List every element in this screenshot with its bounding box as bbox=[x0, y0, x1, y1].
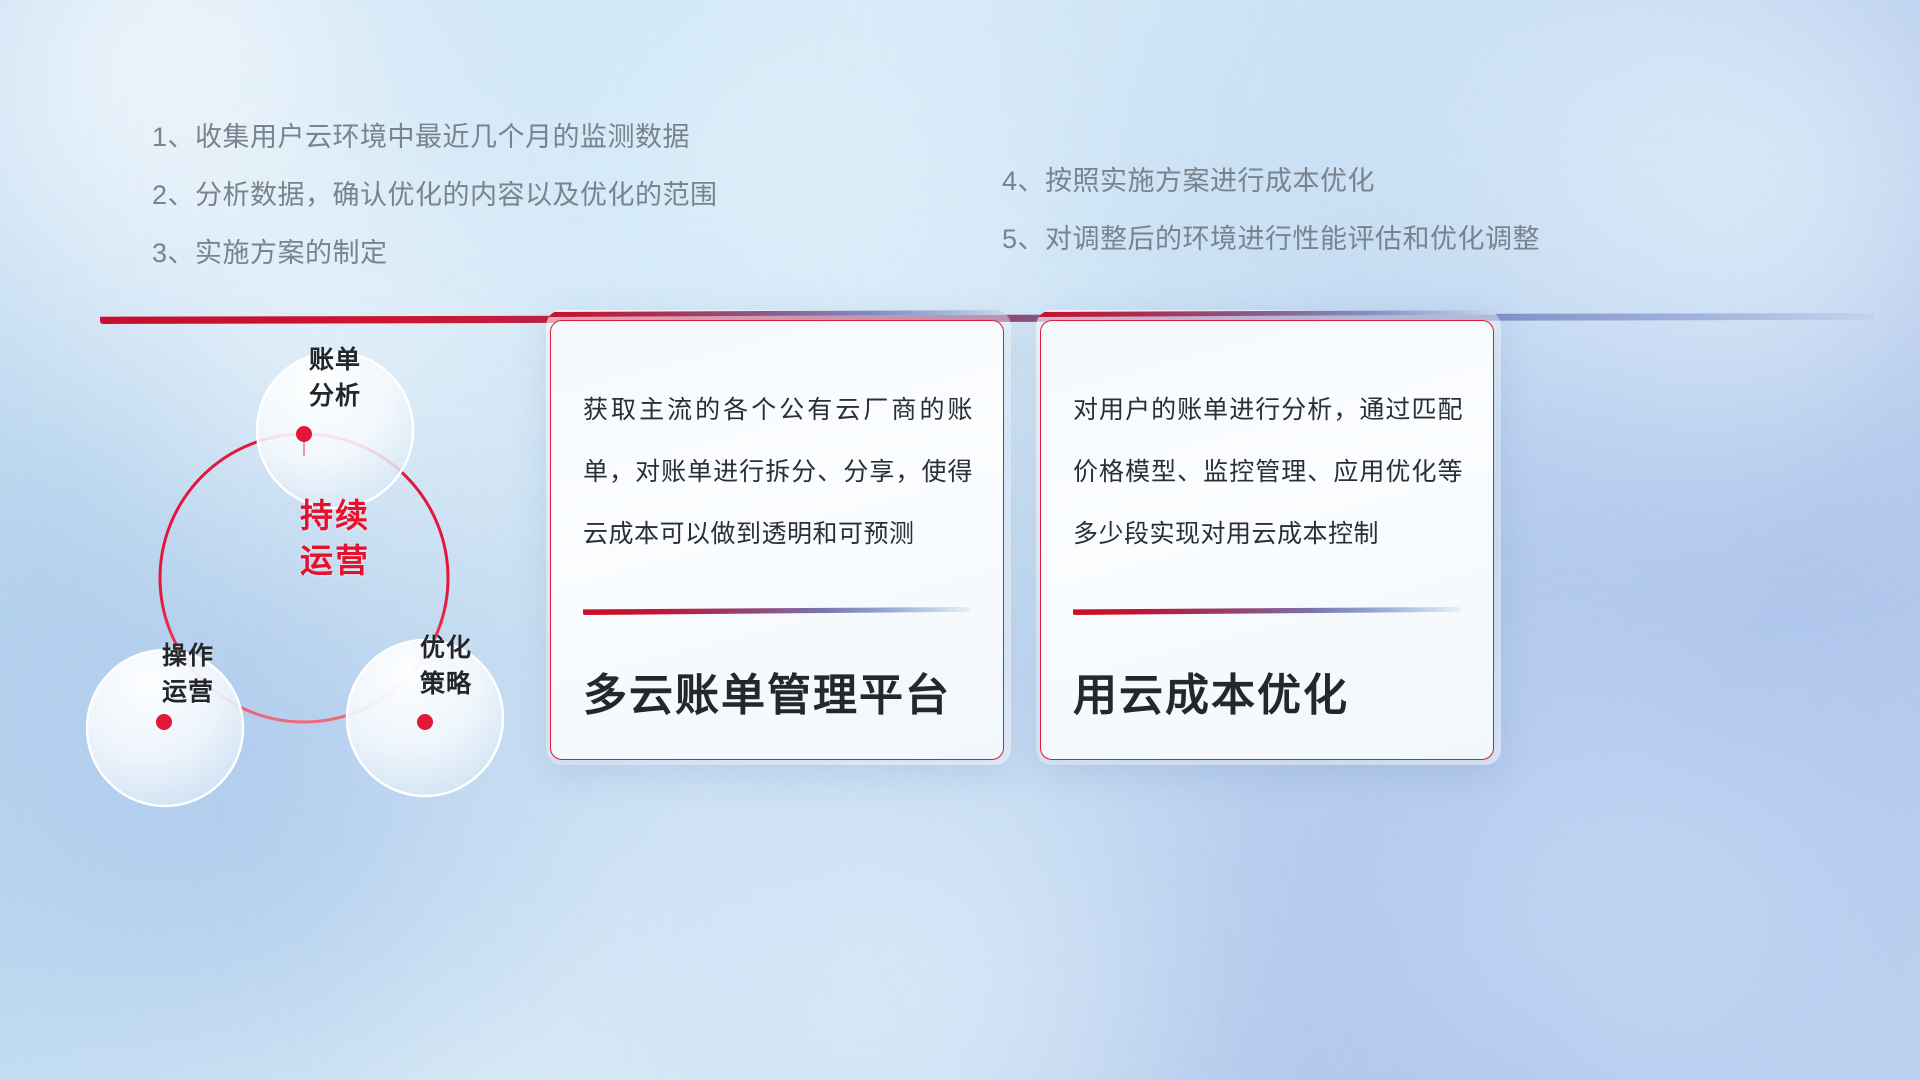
card-body-text: 对用户的账单进行分析，通过匹配价格模型、监控管理、应用优化等多少段实现对用云成本… bbox=[1073, 379, 1463, 565]
card-inner: 获取主流的各个公有云厂商的账单，对账单进行拆分、分享，使得云成本可以做到透明和可… bbox=[550, 320, 1004, 760]
card-outer-frame: 获取主流的各个公有云厂商的账单，对账单进行拆分、分享，使得云成本可以做到透明和可… bbox=[546, 310, 1011, 765]
bubble-label-line-2: 运营 bbox=[118, 674, 258, 710]
step-item-2: 2、分析数据，确认优化的内容以及优化的范围 bbox=[152, 166, 718, 224]
steps-left-column: 1、收集用户云环境中最近几个月的监测数据 2、分析数据，确认优化的内容以及优化的… bbox=[152, 108, 718, 282]
card-divider bbox=[583, 607, 971, 615]
card-divider bbox=[1073, 607, 1461, 615]
bubble-label-line-2: 分析 bbox=[265, 378, 405, 414]
step-item-3: 3、实施方案的制定 bbox=[152, 224, 718, 282]
diagram-center-label: 持续 运营 bbox=[250, 493, 420, 583]
feature-card-multicloud-billing[interactable]: 获取主流的各个公有云厂商的账单，对账单进行拆分、分享，使得云成本可以做到透明和可… bbox=[546, 310, 1011, 765]
connector-dot-left bbox=[156, 714, 172, 730]
bubble-label-line-1: 操作 bbox=[118, 638, 258, 674]
steps-right-column: 4、按照实施方案进行成本优化 5、对调整后的环境进行性能评估和优化调整 bbox=[1002, 152, 1540, 268]
step-item-5: 5、对调整后的环境进行性能评估和优化调整 bbox=[1002, 210, 1540, 268]
card-inner: 对用户的账单进行分析，通过匹配价格模型、监控管理、应用优化等多少段实现对用云成本… bbox=[1040, 320, 1494, 760]
continuous-operation-diagram: 账单 分析 操作 运营 优化 策略 持续 运营 bbox=[80, 330, 540, 810]
step-item-1: 1、收集用户云环境中最近几个月的监测数据 bbox=[152, 108, 718, 166]
process-steps: 1、收集用户云环境中最近几个月的监测数据 2、分析数据，确认优化的内容以及优化的… bbox=[0, 0, 1920, 300]
card-title: 用云成本优化 bbox=[1073, 659, 1473, 723]
bubble-label-bill-analysis: 账单 分析 bbox=[265, 342, 405, 414]
card-body-text: 获取主流的各个公有云厂商的账单，对账单进行拆分、分享，使得云成本可以做到透明和可… bbox=[583, 379, 973, 565]
bubble-label-line-1: 账单 bbox=[265, 342, 405, 378]
bubble-label-optimization-strategy: 优化 策略 bbox=[376, 630, 516, 702]
bubble-label-line-1: 优化 bbox=[376, 630, 516, 666]
bubble-label-line-2: 策略 bbox=[376, 666, 516, 702]
bubble-label-operation: 操作 运营 bbox=[118, 638, 258, 710]
step-item-4: 4、按照实施方案进行成本优化 bbox=[1002, 152, 1540, 210]
card-outer-frame: 对用户的账单进行分析，通过匹配价格模型、监控管理、应用优化等多少段实现对用云成本… bbox=[1036, 310, 1501, 765]
feature-card-cost-optimization[interactable]: 对用户的账单进行分析，通过匹配价格模型、监控管理、应用优化等多少段实现对用云成本… bbox=[1036, 310, 1501, 765]
card-title: 多云账单管理平台 bbox=[583, 659, 983, 723]
center-label-line-2: 运营 bbox=[250, 538, 420, 583]
connector-dot-right bbox=[417, 714, 433, 730]
center-label-line-1: 持续 bbox=[250, 493, 420, 538]
